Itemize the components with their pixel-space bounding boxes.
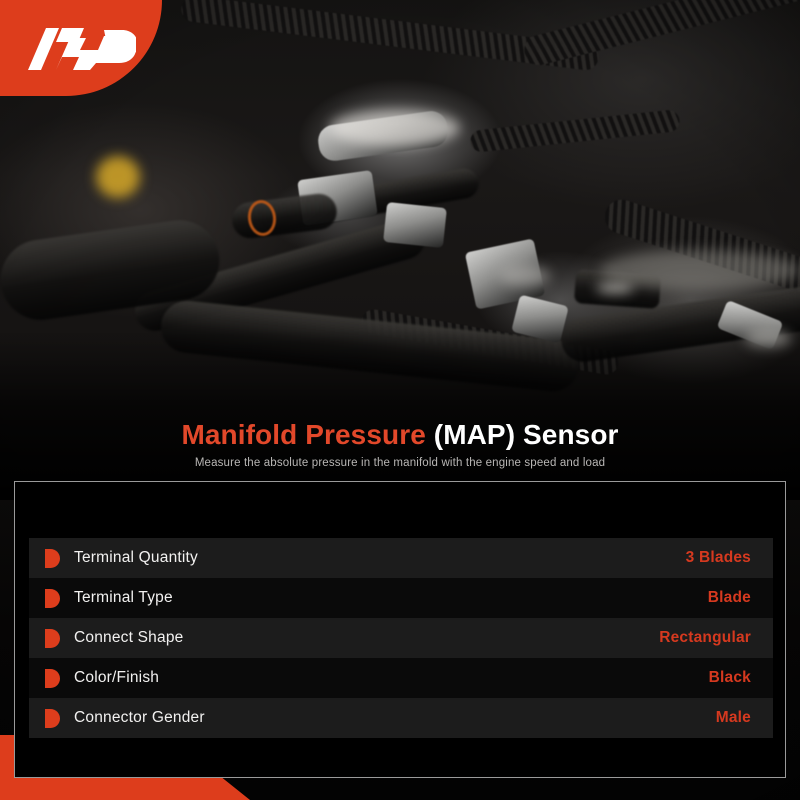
page-title: Manifold Pressure (MAP) Sensor [0,420,800,450]
spec-row: Connector GenderMale [29,698,773,738]
spec-row: Terminal Quantity3 Blades [29,538,773,578]
spec-value: 3 Blades [686,549,751,567]
specs-panel: Terminal Quantity3 BladesTerminal TypeBl… [14,481,786,778]
spec-row: Color/FinishBlack [29,658,773,698]
title-block: Manifold Pressure (MAP) Sensor Measure t… [0,420,800,469]
spec-row: Terminal TypeBlade [29,578,773,618]
d-shape-bullet-icon [45,589,60,608]
page-subtitle: Measure the absolute pressure in the man… [0,457,800,469]
d-shape-bullet-icon [45,669,60,688]
product-infographic: Manifold Pressure (MAP) Sensor Measure t… [0,0,800,800]
title-secondary: (MAP) Sensor [434,419,619,450]
hp-arrow-logo-icon [26,26,136,72]
spec-row: Connect ShapeRectangular [29,618,773,658]
spec-label: Color/Finish [74,669,709,687]
spec-label: Connector Gender [74,709,716,727]
spec-value: Male [716,709,751,727]
spec-label: Connect Shape [74,629,659,647]
spec-value: Rectangular [659,629,751,647]
title-primary: Manifold Pressure [181,419,425,450]
spec-value: Blade [708,589,751,607]
specs-table: Terminal Quantity3 BladesTerminal TypeBl… [29,538,773,738]
d-shape-bullet-icon [45,709,60,728]
d-shape-bullet-icon [45,549,60,568]
d-shape-bullet-icon [45,629,60,648]
spec-value: Black [709,669,751,687]
spec-label: Terminal Type [74,589,708,607]
spec-label: Terminal Quantity [74,549,686,567]
